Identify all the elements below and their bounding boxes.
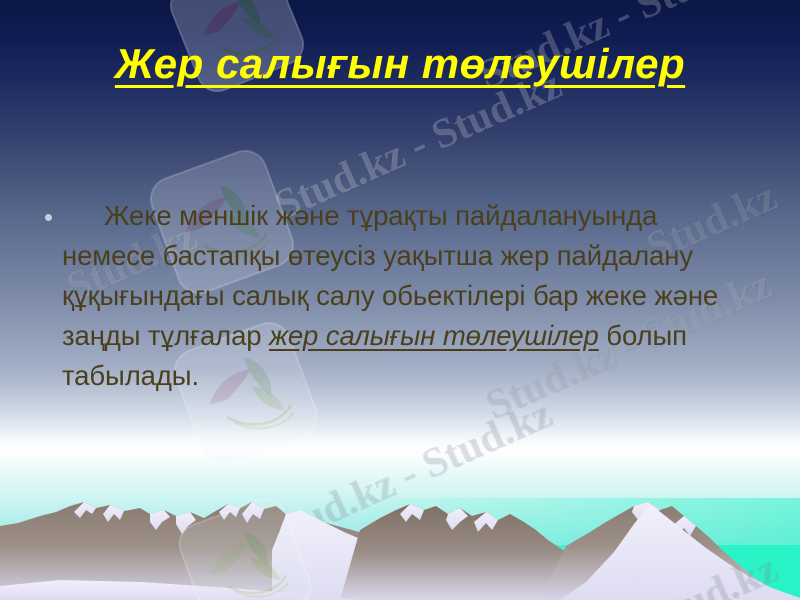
slide-title: Жер салығын төлеушілер <box>0 40 800 88</box>
bullet-marker <box>45 214 52 221</box>
body-paragraph: Жеке меншік және тұрақты пайдалануында н… <box>62 196 757 396</box>
presentation-slide: Stud.kz - Stud.kz Stud.kz - Stud.kz Stud… <box>0 0 800 600</box>
mountain-range-illustration <box>0 490 800 600</box>
body-emphasis-text: жер салығын төлеушілер <box>269 320 599 351</box>
slide-body: Жеке меншік және тұрақты пайдалануында н… <box>45 196 757 396</box>
